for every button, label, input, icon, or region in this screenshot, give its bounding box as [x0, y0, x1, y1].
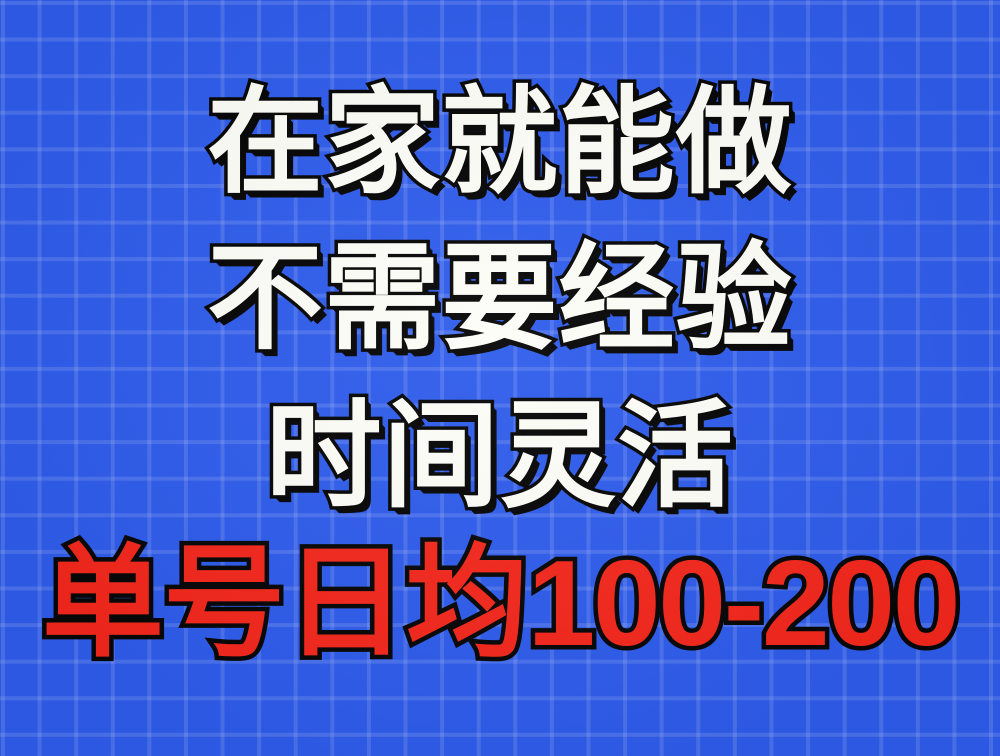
highlight-value-range: 100-200: [527, 535, 958, 671]
headline-line-3: 时间灵活: [0, 398, 1000, 514]
promo-poster: 在家就能做 不需要经验 时间灵活 单号日均100-200: [0, 0, 1000, 756]
headline-text-stack: 在家就能做 不需要经验 时间灵活 单号日均100-200: [0, 0, 1000, 756]
headline-line-1: 在家就能做: [0, 84, 1000, 200]
headline-line-2: 不需要经验: [0, 240, 1000, 356]
highlight-label: 单号日均: [42, 535, 528, 671]
highlight-earnings-line: 单号日均100-200: [0, 542, 1000, 664]
